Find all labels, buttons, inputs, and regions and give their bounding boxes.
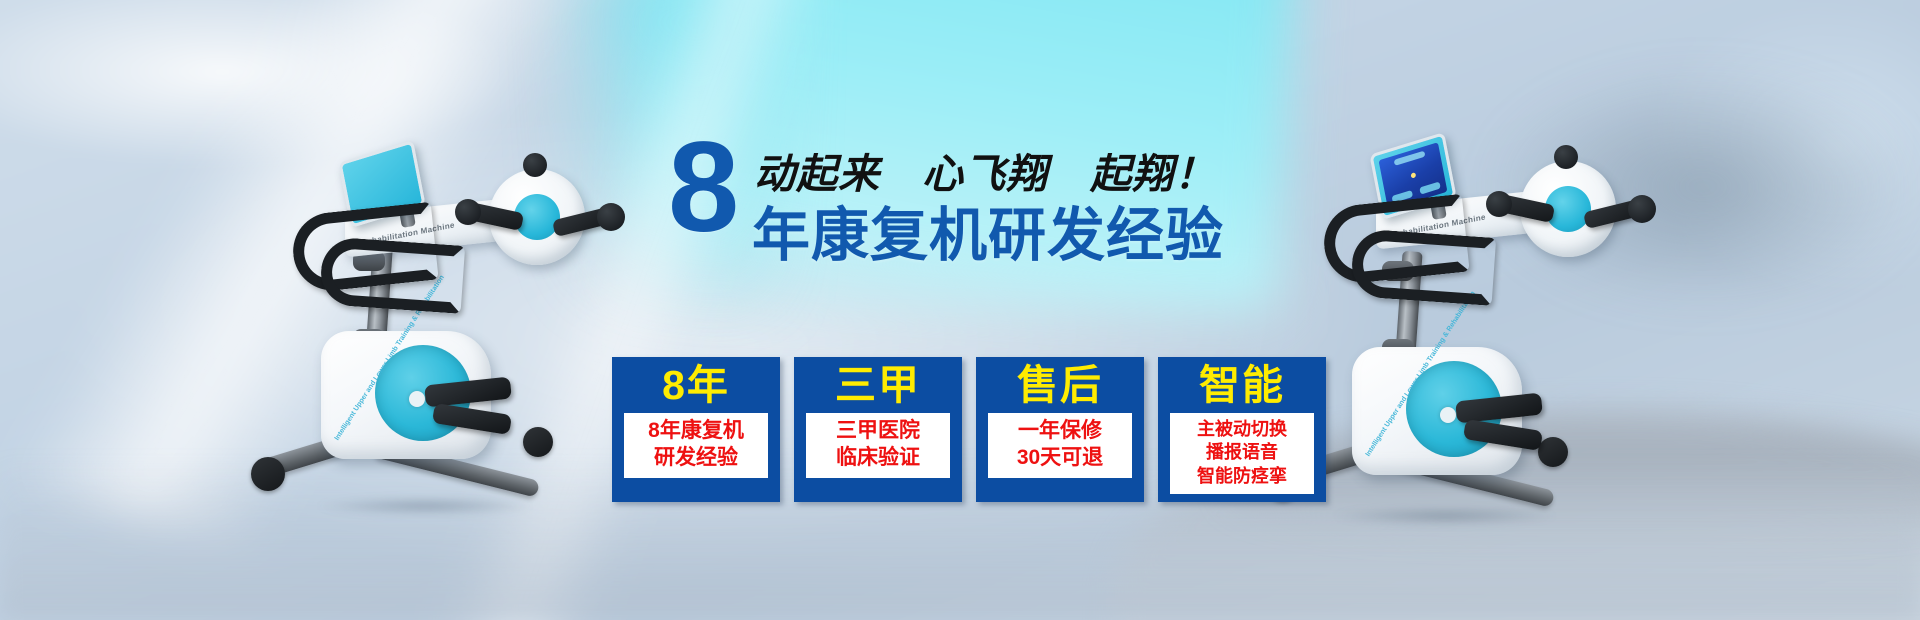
machine-lower-body: Intelligent Upper and Lower Limb Trainin…: [321, 331, 491, 459]
upper-crank-unit: [489, 169, 585, 265]
feature-detail-panel: 一年保修 30天可退: [988, 413, 1132, 478]
feature-detail-line: 播报语音: [1172, 441, 1312, 464]
upper-crank-unit: [1520, 161, 1616, 257]
arm-support-handle-lower: [319, 236, 465, 314]
promo-banner: Intelligent Upper and Lower Limb Trainin…: [0, 0, 1920, 620]
feature-title: 智能: [1158, 361, 1326, 413]
headline-main: 年康复机研发经验: [752, 188, 1224, 272]
feature-detail-line: 30天可退: [990, 445, 1130, 472]
upper-grip-right: [1628, 195, 1656, 223]
upper-grip-right: [597, 203, 625, 231]
lower-flywheel-hub: [409, 391, 425, 407]
base-cap-rear: [1538, 437, 1568, 467]
feature-detail-panel: 主被动切换 播报语音 智能防痉挛: [1170, 413, 1314, 494]
upper-grip-left: [1486, 191, 1512, 217]
feature-badge-aftersales[interactable]: 售后 一年保修 30天可退: [976, 357, 1144, 502]
feature-title: 售后: [976, 361, 1144, 413]
lower-flywheel-hub: [1440, 407, 1456, 423]
feature-detail-line: 主被动切换: [1172, 418, 1312, 441]
screen-button-right: [1419, 182, 1441, 195]
feature-title: 三甲: [794, 361, 962, 413]
base-cap-front: [251, 457, 285, 491]
feature-badge-smart[interactable]: 智能 主被动切换 播报语音 智能防痉挛: [1158, 357, 1326, 502]
feature-detail-line: 研发经验: [626, 445, 766, 472]
feature-badge-years[interactable]: 8年 8年康复机 研发经验: [612, 357, 780, 502]
feature-detail-panel: 三甲医院 临床验证: [806, 413, 950, 478]
base-cap-rear: [523, 427, 553, 457]
headline-big-number: 8: [668, 124, 737, 252]
screen-status-bar: [1394, 151, 1426, 166]
feature-title: 8年: [612, 361, 780, 413]
feature-detail-line: 临床验证: [808, 445, 948, 472]
feature-detail-panel: 8年康复机 研发经验: [624, 413, 768, 478]
machine-head-unit: Rehabilitation Machine: [275, 147, 575, 287]
product-image-left: Intelligent Upper and Lower Limb Trainin…: [255, 95, 595, 525]
screen-indicator-dot: [1410, 172, 1416, 178]
machine-lower-body: Intelligent Upper and Lower Limb Trainin…: [1352, 347, 1522, 475]
headline-block: 8 动起来 心飞翔 起翔！ 年康复机研发经验: [668, 130, 1308, 260]
feature-detail-line: 8年康复机: [626, 418, 766, 445]
arm-support-handle-lower: [1350, 228, 1496, 306]
feature-badge-hospital[interactable]: 三甲 三甲医院 临床验证: [794, 357, 962, 502]
feature-badge-list: 8年 8年康复机 研发经验 三甲 三甲医院 临床验证 售后 一年保修 30天可退…: [612, 357, 1326, 502]
feature-detail-line: 三甲医院: [808, 418, 948, 445]
machine-head-unit: Rehabilitation Machine: [1306, 139, 1606, 279]
upper-grip-left: [455, 199, 481, 225]
upper-knob-top: [523, 153, 547, 177]
feature-detail-line: 智能防痉挛: [1172, 465, 1312, 488]
upper-knob-top: [1554, 145, 1578, 169]
feature-detail-line: 一年保修: [990, 418, 1130, 445]
